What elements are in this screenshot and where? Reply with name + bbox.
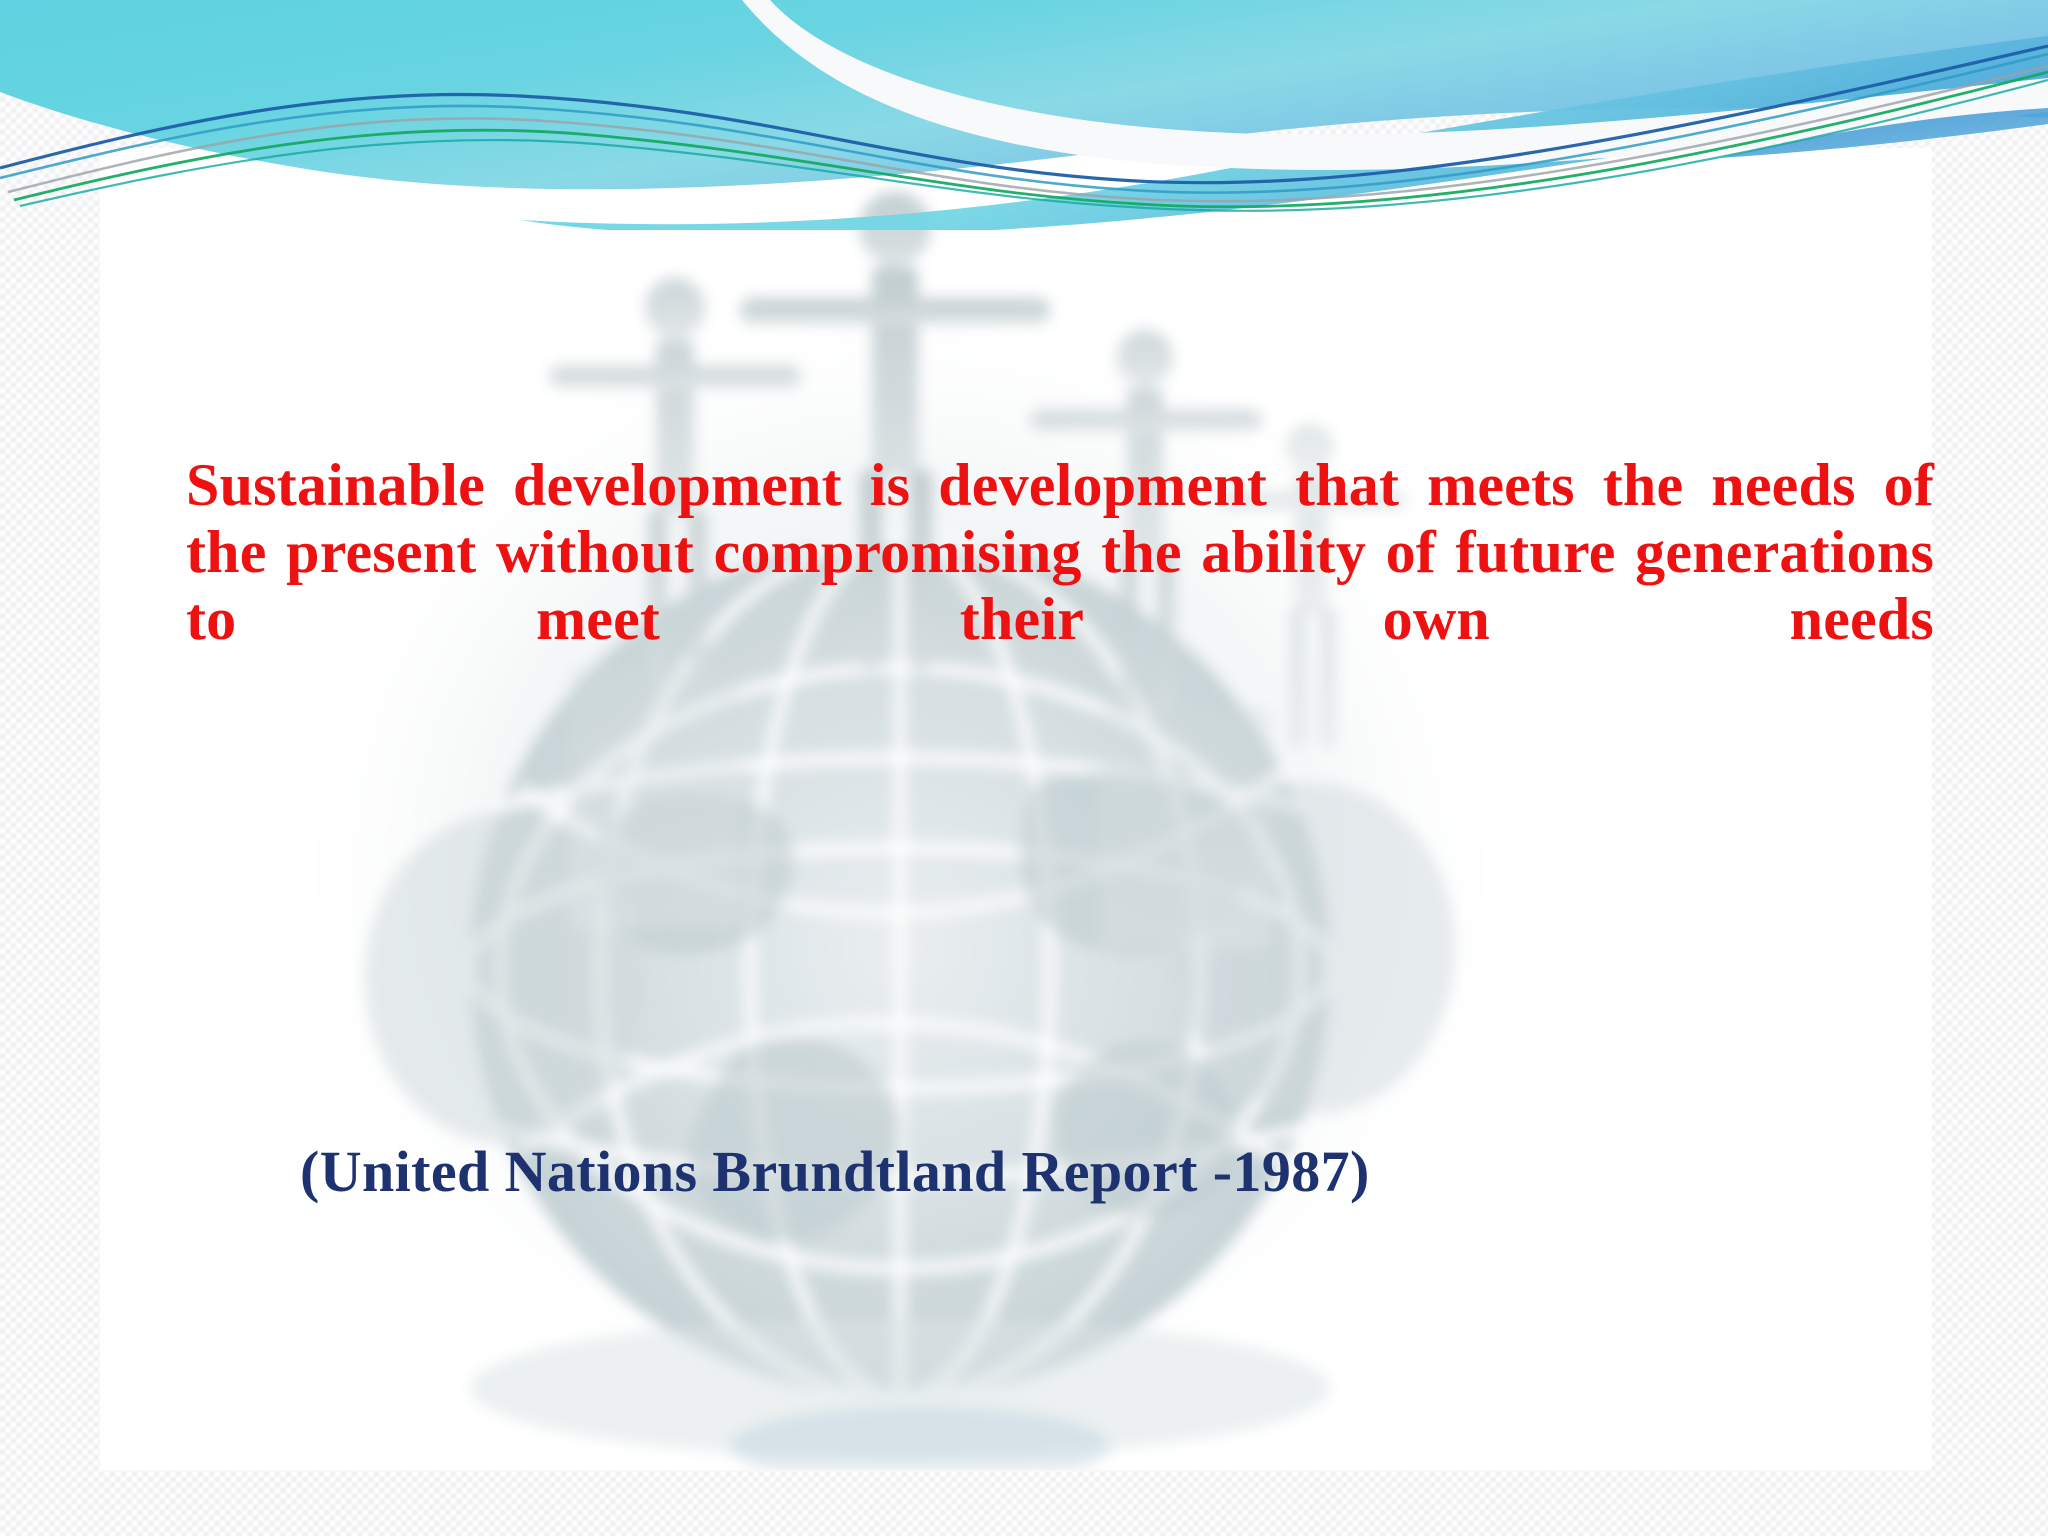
slide: Sustainable development is development t… [0,0,2048,1536]
quote-block: Sustainable development is development t… [186,452,1934,721]
attribution-text: (United Nations Brundtland Report -1987) [300,1140,1370,1204]
globe-and-people-image [100,148,1932,1470]
photo-placeholder [100,148,1932,1470]
attribution-block: (United Nations Brundtland Report -1987) [300,1140,1370,1204]
quote-text: Sustainable development is development t… [186,452,1934,721]
